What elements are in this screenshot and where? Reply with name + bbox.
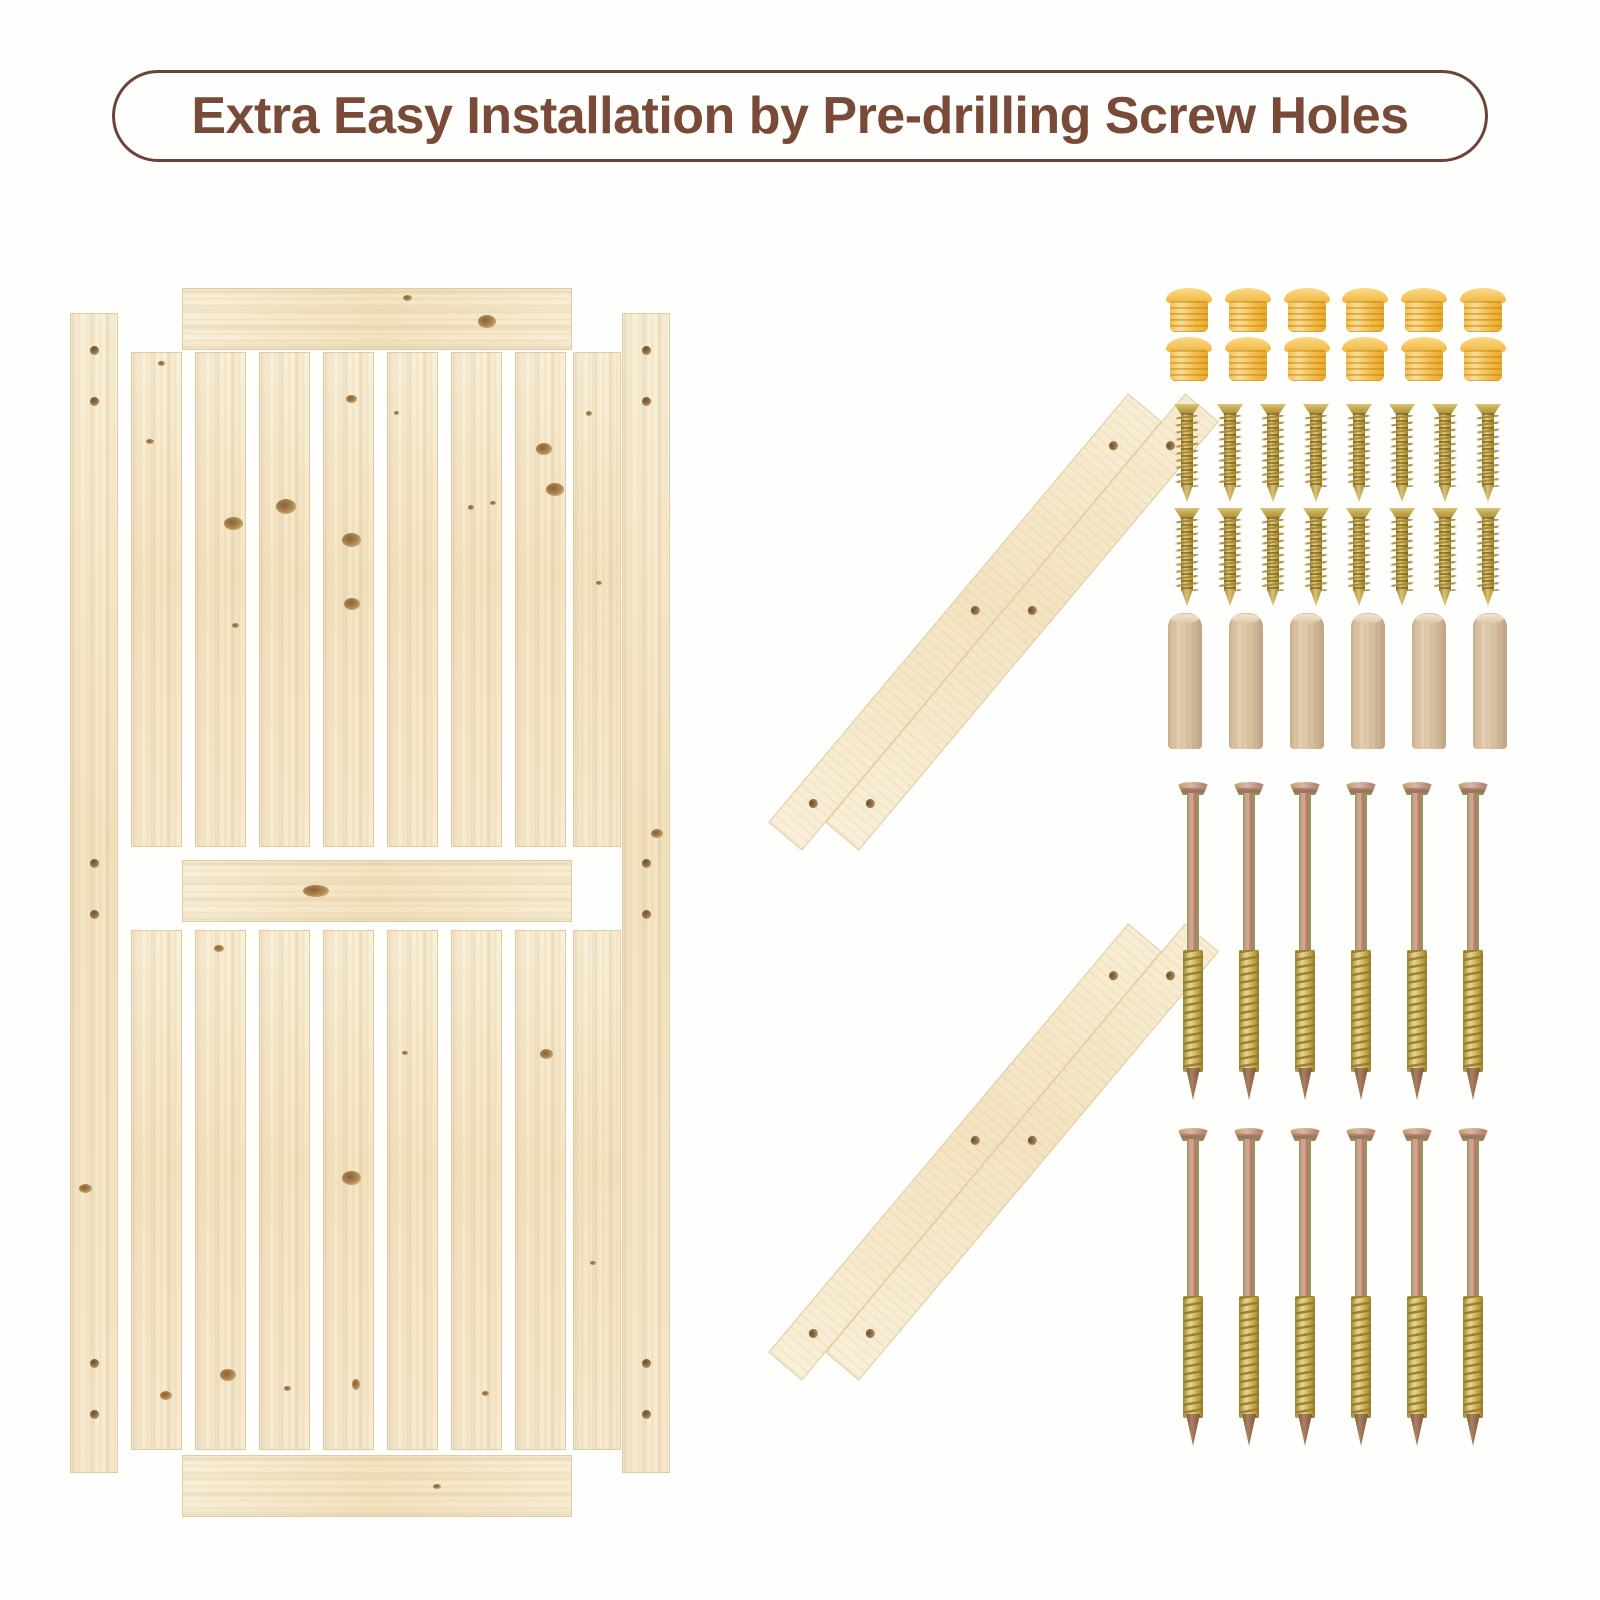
wood-knot <box>220 1369 236 1381</box>
short-screw-icon <box>1346 404 1372 502</box>
predrilled-hole <box>90 397 99 406</box>
wood-plug-icon <box>1225 337 1271 381</box>
predrilled-hole <box>807 797 820 810</box>
wood-knot <box>433 1484 441 1489</box>
wood-dowel-icon <box>1473 613 1507 749</box>
door-middle-rail <box>182 860 572 922</box>
short-screw-icon <box>1303 404 1329 502</box>
product-image-canvas: Extra Easy Installation by Pre-drilling … <box>0 0 1600 1600</box>
door-slat-upper <box>195 352 246 847</box>
wood-knot <box>160 1391 172 1400</box>
predrilled-hole <box>642 346 651 355</box>
wood-knot <box>482 1391 489 1396</box>
predrilled-hole <box>90 1359 99 1368</box>
wood-knot <box>490 501 496 505</box>
long-screw-row <box>1178 782 1508 1100</box>
short-screw-icon <box>1217 508 1243 606</box>
door-slat-lower <box>195 930 246 1450</box>
wood-knot <box>214 945 224 952</box>
predrilled-hole <box>642 910 651 919</box>
long-screw-icon <box>1402 1128 1432 1446</box>
wood-plug-icon <box>1284 288 1330 332</box>
predrilled-hole <box>90 1410 99 1419</box>
door-bottom-rail <box>182 1455 572 1517</box>
wood-dowel-icon <box>1351 613 1385 749</box>
wood-knot <box>590 1261 596 1265</box>
short-screw-icon <box>1260 508 1286 606</box>
door-slat-upper <box>573 352 621 847</box>
predrilled-hole <box>969 1134 982 1147</box>
diagonal-brace <box>768 923 1162 1380</box>
predrilled-hole <box>969 604 982 617</box>
predrilled-hole <box>807 1327 820 1340</box>
door-slat-lower <box>323 930 374 1450</box>
wood-knot <box>352 1379 360 1390</box>
wood-knot <box>394 411 399 415</box>
short-screw-row <box>1174 508 1504 606</box>
banner-title-text: Extra Easy Installation by Pre-drilling … <box>191 86 1408 146</box>
wood-dowel-icon <box>1290 613 1324 749</box>
short-screw-icon <box>1174 508 1200 606</box>
wood-plug-icon <box>1284 337 1330 381</box>
wood-knot <box>596 581 602 585</box>
long-screw-icon <box>1290 782 1320 1100</box>
long-screw-row <box>1178 1128 1508 1446</box>
long-screw-icon <box>1346 782 1376 1100</box>
door-slat-lower <box>515 930 566 1450</box>
predrilled-hole <box>864 1327 877 1340</box>
wood-knot <box>232 623 239 628</box>
long-screw-icon <box>1346 1128 1376 1446</box>
predrilled-hole <box>1026 604 1039 617</box>
predrilled-hole <box>642 1410 651 1419</box>
short-screw-icon <box>1217 404 1243 502</box>
door-slat-lower <box>451 930 502 1450</box>
wood-knot <box>158 361 165 366</box>
wood-plug-row <box>1166 288 1506 332</box>
wood-knot <box>536 443 552 455</box>
wood-plug-icon <box>1342 337 1388 381</box>
wood-knot <box>276 499 296 514</box>
long-screw-icon <box>1234 1128 1264 1446</box>
short-screw-icon <box>1260 404 1286 502</box>
door-slat-upper <box>131 352 182 847</box>
wood-plug-icon <box>1342 288 1388 332</box>
wood-plug-icon <box>1166 337 1212 381</box>
short-screw-icon <box>1389 404 1415 502</box>
door-slat-lower <box>131 930 182 1450</box>
predrilled-hole <box>90 346 99 355</box>
predrilled-hole <box>864 797 877 810</box>
short-screw-icon <box>1432 404 1458 502</box>
wood-plug-row <box>1166 337 1506 381</box>
predrilled-hole <box>1107 969 1120 982</box>
wood-dowel-icon <box>1168 613 1202 749</box>
wood-dowel-icon <box>1229 613 1263 749</box>
short-screw-icon <box>1475 508 1501 606</box>
wood-plug-icon <box>1401 288 1447 332</box>
wood-knot <box>342 1171 361 1185</box>
wood-knot <box>342 533 361 547</box>
long-screw-icon <box>1178 1128 1208 1446</box>
short-screw-row <box>1174 404 1504 502</box>
diagonal-brace <box>825 923 1219 1380</box>
door-slat-upper <box>387 352 438 847</box>
wood-plug-icon <box>1460 337 1506 381</box>
diagonal-brace <box>825 393 1219 850</box>
wood-knot <box>224 517 243 530</box>
predrilled-hole <box>642 397 651 406</box>
door-slat-upper <box>515 352 566 847</box>
wood-knot <box>79 1184 92 1193</box>
wood-knot <box>344 598 360 610</box>
door-left-stile <box>70 313 118 1473</box>
short-screw-icon <box>1389 508 1415 606</box>
wood-plug-icon <box>1225 288 1271 332</box>
wood-knot <box>403 295 412 301</box>
wood-dowel-icon <box>1412 613 1446 749</box>
predrilled-hole <box>1164 969 1177 982</box>
short-screw-icon <box>1475 404 1501 502</box>
short-screw-icon <box>1174 404 1200 502</box>
wood-plug-icon <box>1401 337 1447 381</box>
wood-knot <box>540 1049 553 1059</box>
wood-plug-icon <box>1166 288 1212 332</box>
predrilled-hole <box>90 859 99 868</box>
short-screw-icon <box>1432 508 1458 606</box>
door-slat-lower <box>573 930 621 1450</box>
long-screw-icon <box>1178 782 1208 1100</box>
title-banner: Extra Easy Installation by Pre-drilling … <box>112 70 1488 162</box>
diagonal-brace-group-upper <box>690 360 1140 880</box>
wood-knot <box>284 1386 291 1391</box>
wood-knot <box>468 505 474 510</box>
door-slat-upper <box>259 352 310 847</box>
diagonal-brace <box>768 393 1162 850</box>
door-slat-lower <box>259 930 310 1450</box>
predrilled-hole <box>642 859 651 868</box>
wood-knot <box>402 1051 408 1055</box>
door-top-rail <box>182 288 572 350</box>
door-slat-lower <box>387 930 438 1450</box>
wood-knot <box>586 411 592 416</box>
dowel-row <box>1168 613 1508 749</box>
long-screw-icon <box>1458 782 1488 1100</box>
predrilled-hole <box>1026 1134 1039 1147</box>
door-right-stile <box>622 313 670 1473</box>
diagonal-brace-group-lower <box>690 890 1140 1410</box>
door-slat-upper <box>451 352 502 847</box>
wood-knot <box>546 483 564 496</box>
wood-knot <box>478 315 496 328</box>
long-screw-icon <box>1458 1128 1488 1446</box>
wood-knot <box>651 829 663 838</box>
long-screw-icon <box>1234 782 1264 1100</box>
door-slat-upper <box>323 352 374 847</box>
wood-plug-icon <box>1460 288 1506 332</box>
short-screw-icon <box>1303 508 1329 606</box>
long-screw-icon <box>1402 782 1432 1100</box>
long-screw-icon <box>1290 1128 1320 1446</box>
predrilled-hole <box>642 1359 651 1368</box>
wood-knot <box>146 439 154 444</box>
predrilled-hole <box>1107 439 1120 452</box>
wood-knot <box>303 885 329 897</box>
wood-knot <box>346 395 357 403</box>
predrilled-hole <box>90 910 99 919</box>
short-screw-icon <box>1346 508 1372 606</box>
